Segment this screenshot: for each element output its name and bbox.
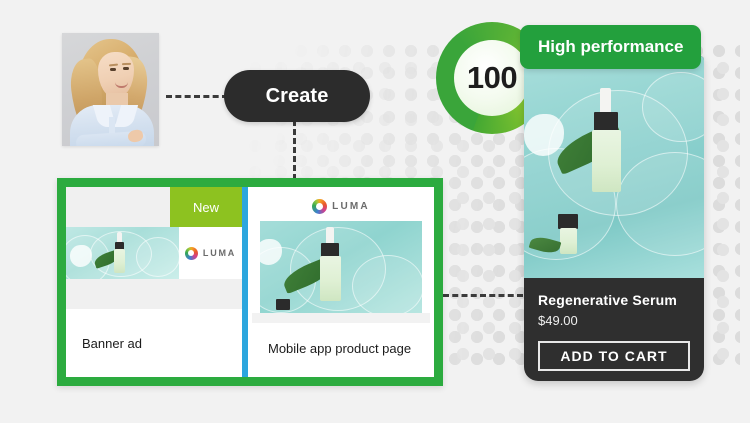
new-tag-label: New xyxy=(193,200,219,215)
serum-product-thumbnail xyxy=(260,221,422,313)
asset-card-label: Banner ad xyxy=(66,309,242,377)
luma-wordmark: LUMA xyxy=(332,201,370,212)
assets-panel: New LUMA xyxy=(57,178,443,386)
luma-wordmark: LUMA xyxy=(203,248,236,258)
luma-mark-icon xyxy=(185,247,198,260)
luma-logo: LUMA xyxy=(312,199,370,214)
banner-ad-preview: LUMA xyxy=(66,227,242,279)
product-preview-card: Regenerative Serum $49.00 ADD TO CART xyxy=(524,56,704,381)
bottle-cap xyxy=(594,112,618,132)
create-button-label: Create xyxy=(266,85,329,108)
asset-card-banner-ad[interactable]: New LUMA xyxy=(66,187,242,377)
serum-bottle-small xyxy=(560,228,577,254)
connector-create-to-assets xyxy=(293,120,296,180)
serum-bottle xyxy=(592,130,621,192)
serum-bottle xyxy=(114,249,125,273)
serum-banner-thumbnail xyxy=(66,227,179,279)
product-info: Regenerative Serum $49.00 xyxy=(524,278,704,328)
asset-card-label: Mobile app product page xyxy=(252,323,430,373)
canvas: Create 100 High performance New xyxy=(0,0,750,423)
status-badge: High performance xyxy=(520,25,701,69)
connector-assets-to-product xyxy=(443,294,523,297)
bottle-cap-small xyxy=(276,299,290,310)
bottle-cap-small xyxy=(558,214,578,229)
luma-logo: LUMA xyxy=(185,247,236,260)
petri-dish xyxy=(136,237,179,277)
petri-dish xyxy=(352,255,422,313)
connector-portrait-to-create xyxy=(166,95,228,98)
new-tag-badge: New xyxy=(170,187,242,227)
mobile-card-spacer xyxy=(252,313,430,323)
regenerative-serum-photo xyxy=(524,56,704,278)
luma-mark-icon xyxy=(312,199,327,214)
persona-portrait-image xyxy=(62,33,159,146)
product-title: Regenerative Serum xyxy=(538,292,690,308)
mobile-card-brand-header: LUMA xyxy=(252,191,430,221)
portrait-eye-left xyxy=(110,68,116,71)
serum-bottle xyxy=(320,256,341,301)
bottle-cap xyxy=(321,243,339,257)
asset-card-mobile-app[interactable]: LUMA Mobile app product page xyxy=(248,187,434,377)
add-to-cart-label: ADD TO CART xyxy=(560,348,667,364)
banner-card-topbar: New xyxy=(66,187,242,227)
add-to-cart-button[interactable]: ADD TO CART xyxy=(538,341,690,371)
banner-card-spacer xyxy=(66,279,242,309)
banner-brand-area: LUMA xyxy=(179,227,242,279)
status-badge-label: High performance xyxy=(538,37,683,56)
product-price: $49.00 xyxy=(538,313,690,328)
score-ring-center: 100 xyxy=(454,40,530,116)
create-button[interactable]: Create xyxy=(224,70,370,122)
portrait-eye-right xyxy=(123,67,129,70)
score-value: 100 xyxy=(467,60,517,96)
